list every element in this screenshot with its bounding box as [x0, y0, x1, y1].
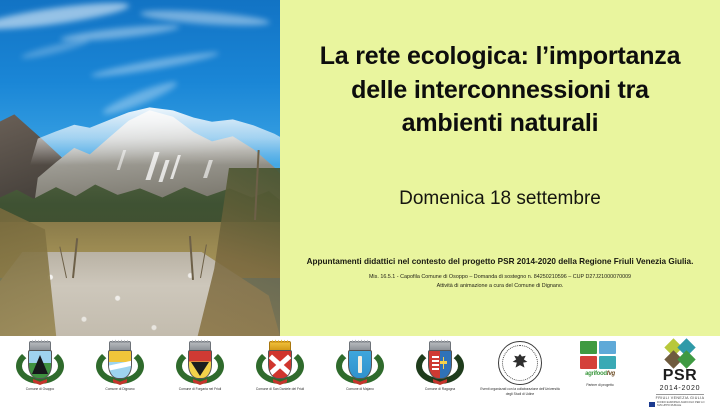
eagle-icon [512, 354, 528, 372]
leaf-tile-icon [599, 356, 616, 369]
funding-details: Mis. 16.5.1 - Capofila Comune di Osoppo … [306, 273, 694, 291]
title-line-1: La rete ecologica: l’importanza [298, 40, 702, 74]
coat-of-arms-icon [14, 341, 66, 385]
logo-caption: Comune di Ragogna [425, 387, 455, 392]
shield-icon [108, 350, 132, 379]
logo-comune-di-majano: Comune di Majano [320, 341, 400, 392]
landscape-photo [0, 0, 280, 336]
shield-icon [348, 350, 372, 379]
logo-caption: Comune di Dignano [105, 387, 134, 392]
flower-tile-icon [580, 356, 597, 369]
coat-of-arms-icon [174, 341, 226, 385]
psr-wordmark: PSR [663, 368, 697, 384]
logo-universita-degli-studi-di-udine: Eventi organizzati con la collaborazione… [480, 341, 560, 397]
funding-line-1: Mis. 16.5.1 - Capofila Comune di Osoppo … [306, 273, 694, 282]
psr-diamonds-icon [663, 341, 697, 367]
poster-title: La rete ecologica: l’importanza delle in… [298, 40, 702, 141]
title-line-2: delle interconnessioni tra [298, 74, 702, 108]
psr-eu-text: FONDO EUROPEO AGRICOLO PER LO SVILUPPO R… [657, 401, 711, 407]
psr-eu-row: FONDO EUROPEO AGRICOLO PER LO SVILUPPO R… [649, 401, 711, 407]
logo-comune-di-dignano: Comune di Dignano [80, 341, 160, 392]
shield-icon [28, 350, 52, 379]
coat-of-arms-icon [414, 341, 466, 385]
psr-years: 2014-2020 [660, 385, 701, 392]
logo-comune-di-ragogna: Comune di Ragogna [400, 341, 480, 392]
poster: La rete ecologica: l’importanza delle in… [0, 0, 720, 406]
project-context-note: Appuntamenti didattici nel contesto del … [306, 257, 694, 266]
logo-caption: Comune di Osoppo [26, 387, 54, 392]
agrifood-word-suffix: fvg [607, 371, 615, 377]
logo-comune-di-forgaria-nel-friuli: Comune di Forgaria nel Friuli [160, 341, 240, 392]
logo-footer: Comune di Osoppo Comune di Dignano Comun… [0, 336, 720, 406]
agrifood-tiles [580, 341, 620, 369]
coat-of-arms-icon [94, 341, 146, 385]
text-panel: La rete ecologica: l’importanza delle in… [280, 0, 720, 336]
university-seal-icon [498, 341, 542, 385]
event-date: Domenica 18 settembre [298, 188, 702, 210]
logo-comune-di-san-daniele-del-friuli: Comune di San Daniele del Friuli [240, 341, 320, 392]
coat-of-arms-icon [334, 341, 386, 385]
title-line-3: ambienti naturali [298, 107, 702, 141]
funding-line-2: Attività di animazione a cura del Comune… [306, 282, 694, 291]
shield-icon [268, 350, 292, 379]
logo-caption: Partner di progetto [586, 383, 613, 388]
diamond-green-icon [677, 350, 695, 368]
agrifood-logo-icon: agrifoodfvg [580, 341, 620, 381]
logo-caption: Eventi organizzati con la collaborazione… [480, 387, 560, 397]
shield-icon [188, 350, 212, 379]
logo-agrifoodfvg: agrifoodfvg Partner di progetto [560, 341, 640, 388]
logo-caption: Comune di Majano [346, 387, 374, 392]
poster-top: La rete ecologica: l’importanza delle in… [0, 0, 720, 336]
landscape-tile-icon [599, 341, 616, 354]
shield-icon [428, 350, 452, 379]
coat-of-arms-icon [254, 341, 306, 385]
logo-psr-friuli-venezia-giulia: PSR 2014-2020 FRIULI VENEZIA GIULIA FOND… [640, 341, 720, 407]
psr-logo-icon: PSR 2014-2020 FRIULI VENEZIA GIULIA FOND… [649, 341, 711, 407]
sprout-tile-icon [580, 341, 597, 354]
agrifood-wordmark: agrifoodfvg [580, 371, 620, 377]
agrifood-word-main: agrifood [585, 371, 607, 377]
logo-comune-di-osoppo: Comune di Osoppo [0, 341, 80, 392]
logo-caption: Comune di San Daniele del Friuli [256, 387, 304, 392]
logo-caption: Comune di Forgaria nel Friuli [179, 387, 222, 392]
psr-region: FRIULI VENEZIA GIULIA [656, 394, 705, 400]
